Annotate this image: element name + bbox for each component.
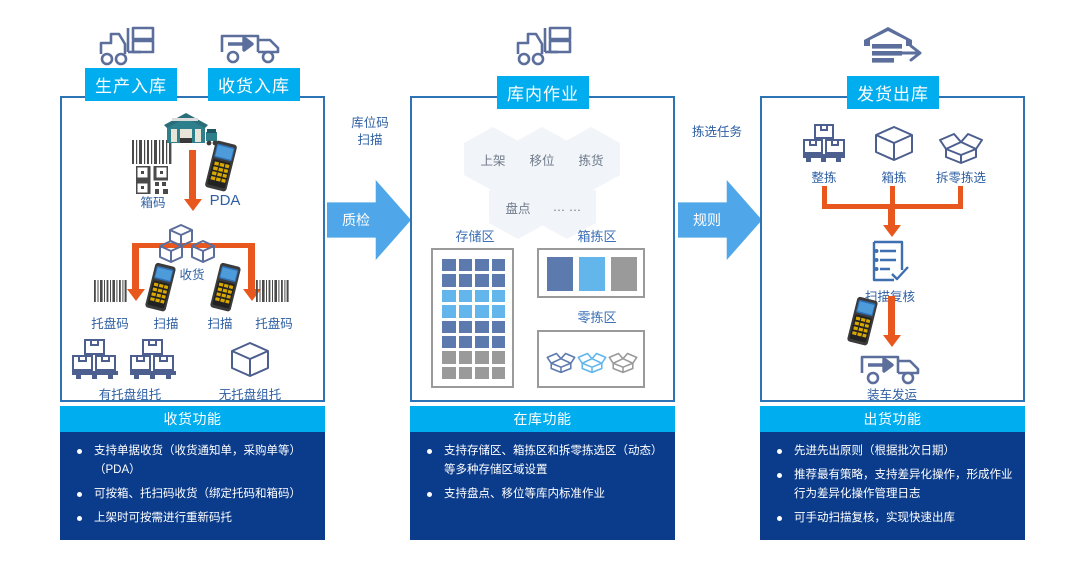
label-with-pallet: 有托盘组托 (85, 384, 175, 403)
piece-pick-open-box-icon (608, 346, 638, 374)
case-pick-swatches (547, 257, 637, 291)
pda-device-right-icon (208, 262, 242, 312)
storage-cell (459, 259, 473, 271)
storage-cell (442, 290, 456, 302)
delivery-truck-icon (218, 26, 284, 68)
storage-cell (459, 305, 473, 317)
single-carton-icon (228, 340, 272, 380)
list-item: 支持盘点、移位等库内标准作业 (418, 485, 667, 504)
flow-arrow-right-branch (248, 243, 255, 290)
storage-cell (475, 259, 489, 271)
label-without-pallet: 无托盘组托 (205, 384, 295, 403)
full-pallet-pick-icon (802, 124, 846, 164)
badge-receipt-inbound[interactable]: 收货入库 (208, 68, 300, 101)
label-scan-left: 扫描 (142, 313, 190, 332)
flow-arrow-to-scan-check (888, 204, 895, 226)
palletized-stack-1-icon (72, 338, 118, 380)
panel-shipping-title: 出货功能 (760, 406, 1025, 432)
connector-2-arrow-rule: 规则 (678, 180, 762, 260)
storage-cell (459, 351, 473, 363)
list-item: 支持单据收货（收货通知单，采购单等）（PDA） (68, 442, 317, 480)
diagram-canvas: 生产入库 收货入库 (0, 0, 1080, 570)
label-case-pick: 箱拣 (863, 167, 925, 186)
scan-check-list-icon (866, 240, 912, 284)
storage-cell (492, 290, 506, 302)
palletized-stack-2-icon (130, 338, 176, 380)
piece-pick-open-boxes (546, 338, 638, 382)
forklift-icon (95, 22, 159, 70)
pallet-barcode-left-icon (93, 280, 127, 302)
storage-grid (442, 259, 505, 379)
storage-cell (442, 367, 456, 379)
label-pallet-code-right: 托盘码 (244, 313, 304, 332)
storage-cell (475, 274, 489, 286)
label-case-pick-zone: 箱拣区 (562, 226, 632, 245)
connector-2-caption: 拣选任务 (679, 124, 755, 141)
case-pick-icon (872, 124, 916, 164)
list-item: 先进先出原则（根据批次日期） (768, 442, 1017, 461)
storage-cell (475, 367, 489, 379)
pallet-barcode-right-icon (255, 280, 289, 302)
received-goods-icon (158, 222, 226, 264)
case-pick-swatch (547, 257, 573, 291)
panel-receiving-title: 收货功能 (60, 406, 325, 432)
connector-1-caption-line2: 扫描 (332, 132, 408, 149)
label-scan-right: 扫描 (196, 313, 244, 332)
piece-pick-icon (938, 124, 984, 164)
storage-cell (459, 290, 473, 302)
list-item: 可按箱、托扫码收货（绑定托码和箱码） (68, 485, 317, 504)
label-storage-zone: 存储区 (440, 226, 510, 245)
storage-cell (459, 336, 473, 348)
storage-cell (475, 290, 489, 302)
storage-cell (442, 274, 456, 286)
storage-cell (442, 305, 456, 317)
storage-cell (442, 336, 456, 348)
flow-arrow-left-branch (132, 243, 139, 290)
badge-shipping-outbound[interactable]: 发货出库 (847, 76, 939, 109)
storage-cell (459, 367, 473, 379)
box-qrcode-icon (136, 166, 168, 194)
connector-1-caption: 库位码 扫描 (332, 115, 408, 149)
panel-shipping-body: 先进先出原则（根据批次日期） 推荐最有策略，支持差异化操作，形成作业行为差异化操… (760, 432, 1025, 540)
storage-cell (492, 336, 506, 348)
storage-cell (459, 321, 473, 333)
piece-pick-open-box-icon (546, 346, 576, 374)
list-item: 可手动扫描复核，实现快速出库 (768, 509, 1017, 528)
storage-cell (492, 367, 506, 379)
panel-receiving-functions: 收货功能 支持单据收货（收货通知单，采购单等）（PDA） 可按箱、托扫码收货（绑… (60, 406, 325, 540)
panel-receiving-body: 支持单据收货（收货通知单，采购单等）（PDA） 可按箱、托扫码收货（绑定托码和箱… (60, 432, 325, 540)
panel-instock-body: 支持存储区、箱拣区和拆零拣选区（动态）等多种存储区域设置 支持盘点、移位等库内标… (410, 432, 675, 540)
forklift-instock-icon (512, 22, 576, 70)
pda-device-left-icon (143, 262, 177, 312)
label-full-pallet-pick: 整拣 (793, 167, 855, 186)
list-item: 推荐最有策略，支持差异化操作，形成作业行为差异化操作管理日志 (768, 466, 1017, 504)
label-pallet-code-left: 托盘码 (80, 313, 140, 332)
pda-device-icon (203, 140, 239, 192)
storage-cell (492, 351, 506, 363)
storage-cell (492, 305, 506, 317)
storage-zone-box (431, 248, 514, 388)
case-pick-swatch (611, 257, 637, 291)
piece-pick-zone-box (537, 330, 645, 388)
case-pick-zone-box (537, 248, 645, 298)
storage-cell (492, 321, 506, 333)
storage-cell (475, 321, 489, 333)
storage-cell (475, 305, 489, 317)
connector-1-arrow-qc: 质检 (327, 180, 411, 260)
connector-1-caption-line1: 库位码 (332, 115, 408, 132)
storage-cell (492, 259, 506, 271)
label-piece-pick-zone: 零拣区 (562, 307, 632, 326)
warehouse-export-icon (862, 24, 922, 70)
storage-cell (442, 321, 456, 333)
list-item: 支持存储区、箱拣区和拆零拣选区（动态）等多种存储区域设置 (418, 442, 667, 480)
label-piece-pick: 拆零拣选 (923, 167, 999, 186)
storage-cell (475, 351, 489, 363)
panel-instock-functions: 在库功能 支持存储区、箱拣区和拆零拣选区（动态）等多种存储区域设置 支持盘点、移… (410, 406, 675, 540)
storage-cell (459, 274, 473, 286)
shipping-truck-icon (858, 348, 924, 388)
panel-shipping-functions: 出货功能 先进先出原则（根据批次日期） 推荐最有策略，支持差异化操作，形成作业行… (760, 406, 1025, 540)
piece-pick-open-box-icon (577, 346, 607, 374)
flow-arrow-to-shipping (888, 296, 895, 336)
label-box-code: 箱码 (118, 192, 188, 211)
storage-cell (442, 351, 456, 363)
flow-arrow-receive (189, 150, 196, 200)
pda-device-outbound-icon (845, 296, 879, 346)
storage-cell (492, 274, 506, 286)
label-pda: PDA (195, 192, 255, 209)
case-pick-swatch (579, 257, 605, 291)
panel-instock-title: 在库功能 (410, 406, 675, 432)
list-item: 上架时可按需进行重新码托 (68, 509, 317, 528)
storage-cell (475, 336, 489, 348)
badge-instock-operation[interactable]: 库内作业 (497, 76, 589, 109)
connector-2-caption-line1: 拣选任务 (679, 124, 755, 141)
storage-cell (442, 259, 456, 271)
badge-production-inbound[interactable]: 生产入库 (85, 68, 177, 101)
